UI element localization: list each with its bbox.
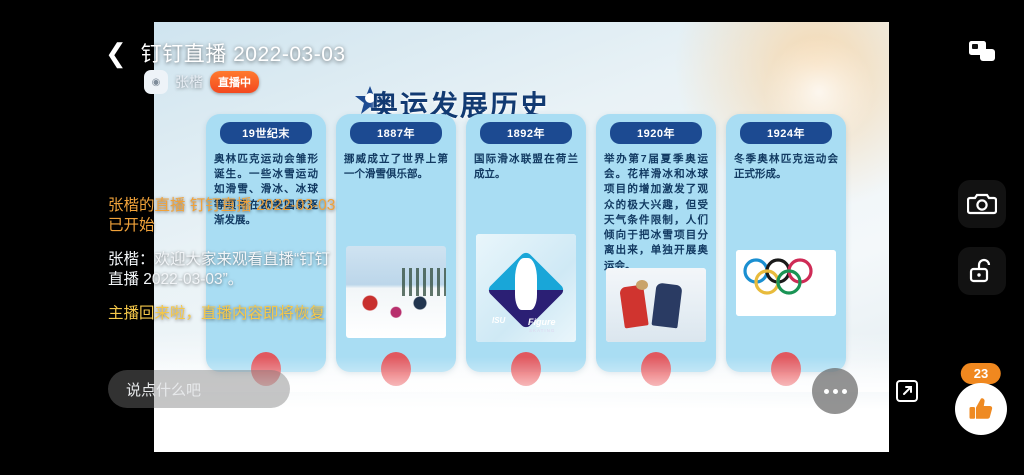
isu-figure-skating-logo: ISU Figure SKATING [476,234,576,342]
picture-in-picture-icon[interactable] [958,28,1006,76]
card-body-text: 举办第7届夏季奥运会。花样滑冰和冰球项目的增加激发了观众的极大兴趣，但受天气条件… [604,152,708,274]
skiing-photo [346,246,446,338]
unlock-icon[interactable] [958,247,1006,295]
chat-message-list[interactable]: 张楷的直播 钉钉直播 2022-03-03 已开始 张楷：欢迎大家来观看直播“钉… [108,196,338,337]
presenter-name: 张楷 [175,72,203,92]
top-bar: ❮ 钉钉直播 2022-03-03 [105,38,346,68]
chat-message-system: 张楷的直播 钉钉直播 2022-03-03 已开始 [108,196,338,237]
isu-mono-text: ISU [492,316,505,325]
card-year-label: 1920年 [610,122,702,144]
share-expand-button[interactable] [886,370,928,412]
timeline-card[interactable]: 1920年 举办第7届夏季奥运会。花样滑冰和冰球项目的增加激发了观众的极大兴趣，… [596,114,716,372]
timeline-card[interactable]: 1892年 国际滑冰联盟在荷兰成立。 ISU Figure SKATING [466,114,586,372]
chat-input-placeholder: 说点什么吧 [126,379,201,400]
timeline-card[interactable]: 1887年 挪威成立了世界上第一个滑雪俱乐部。 [336,114,456,372]
camera-icon[interactable] [958,180,1006,228]
chat-message-user: 张楷：欢迎大家来观看直播“钉钉直播 2022-03-03”。 [108,250,338,291]
card-body-text: 冬季奥林匹克运动会正式形成。 [734,152,838,182]
back-chevron-icon[interactable]: ❮ [105,40,127,66]
ice-hockey-photo [606,268,706,342]
card-year-label: 1924年 [740,122,832,144]
card-year-label: 1892年 [480,122,572,144]
isu-word-text: Figure [528,317,556,327]
avatar: ◉ [144,70,168,94]
thumbs-up-icon [955,383,1007,435]
card-body-text: 国际滑冰联盟在荷兰成立。 [474,152,578,182]
card-year-label: 1887年 [350,122,442,144]
live-status-badge: 直播中 [210,71,259,93]
card-year-label: 19世纪末 [220,122,312,144]
live-stream-screen: 奥运发展历史 19世纪末 奥林匹克运动会雏形诞生。一些冰雪运动如滑雪、滑冰、冰球… [0,0,1024,475]
presenter-info: ◉ 张楷 直播中 [144,70,259,94]
chat-input[interactable]: 说点什么吧 [108,370,290,408]
timeline-card[interactable]: 1924年 冬季奥林匹克运动会正式形成。 [726,114,846,372]
room-title: 钉钉直播 2022-03-03 [141,38,346,68]
card-body-text: 挪威成立了世界上第一个滑雪俱乐部。 [344,152,448,182]
more-options-button[interactable] [812,368,858,414]
chat-message-system: 主播回来啦，直播内容即将恢复 [108,304,338,324]
isu-sub-text: SKATING [529,328,555,333]
like-count: 23 [961,363,1001,384]
olympic-rings-flag [736,250,836,316]
like-button[interactable]: 23 [952,363,1010,435]
